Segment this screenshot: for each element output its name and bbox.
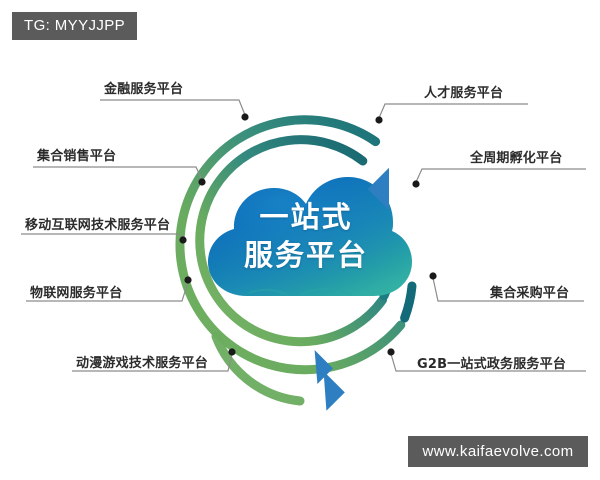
platform-label-g2b-government-service[interactable]: G2B一站式政务服务平台 [417,358,566,371]
connector-lines-right [379,104,586,371]
platform-label-full-cycle-incubation[interactable]: 全周期孵化平台 [470,152,562,165]
watermark-tag-top-left: TG: MYYJJPP [12,12,137,40]
infographic-canvas: 金融服务平台 集合销售平台 移动互联网技术服务平台 物联网服务平台 动漫游戏技术… [0,0,600,480]
platform-label-mobile-internet-tech[interactable]: 移动互联网技术服务平台 [25,219,170,232]
platform-label-talent[interactable]: 人才服务平台 [424,87,503,100]
platform-label-iot[interactable]: 物联网服务平台 [30,287,122,300]
platform-label-collective-procurement[interactable]: 集合采购平台 [490,287,569,300]
platform-label-collective-sales[interactable]: 集合销售平台 [37,150,116,163]
arrow-head-bottom-icon [305,371,345,411]
platform-label-finance[interactable]: 金融服务平台 [104,83,183,96]
watermark-url-bottom-right: www.kaifaevolve.com [408,436,588,467]
platform-label-anime-game-tech[interactable]: 动漫游戏技术服务平台 [76,357,208,370]
one-stop-platform-diagram [0,0,600,480]
